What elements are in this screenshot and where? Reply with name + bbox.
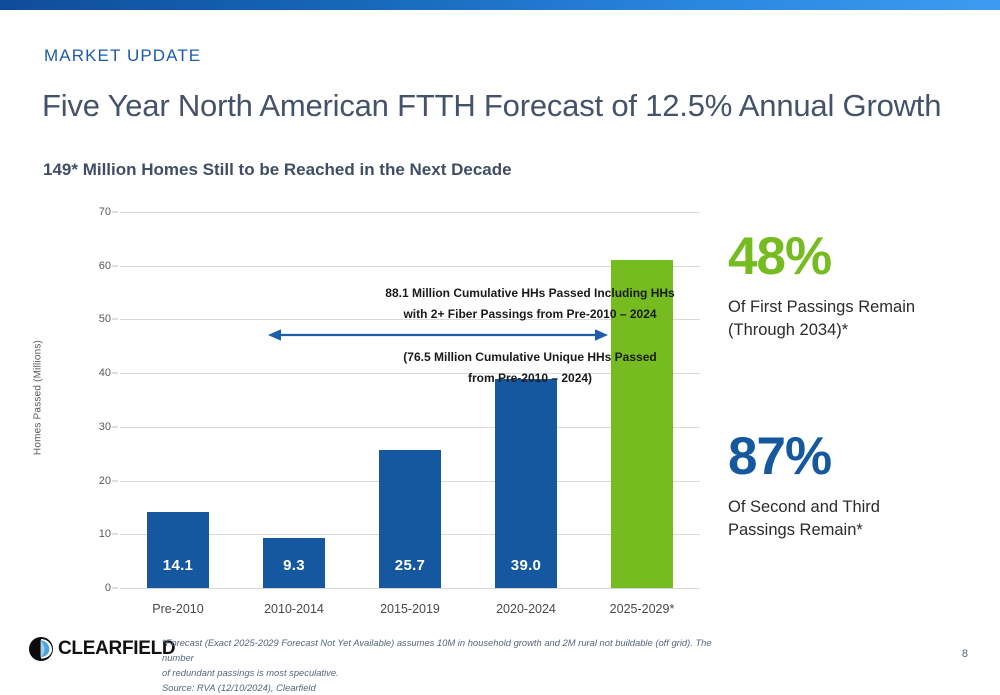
plot-area: 010203040506070 14.1Pre-20109.32010-2014… bbox=[120, 212, 700, 588]
page-title: Five Year North American FTTH Forecast o… bbox=[42, 88, 941, 124]
bar[interactable] bbox=[611, 260, 673, 588]
page-subtitle: 149* Million Homes Still to be Reached i… bbox=[43, 160, 512, 180]
stat-number: 48% bbox=[728, 230, 993, 284]
y-axis-tick-label: 70 bbox=[99, 206, 111, 218]
bar-group: 25.72015-2019 bbox=[352, 212, 468, 588]
stat-description-line-1: Of First Passings Remain bbox=[728, 298, 915, 316]
bar-value-label: 39.0 bbox=[511, 557, 541, 574]
y-axis-tick-label: 20 bbox=[99, 475, 111, 487]
bar-value-label: 25.7 bbox=[395, 557, 425, 574]
bar-group: 14.1Pre-2010 bbox=[120, 212, 236, 588]
x-axis-tick-label: 2020-2024 bbox=[496, 602, 556, 616]
bar-series: 14.1Pre-20109.32010-201425.72015-201939.… bbox=[120, 212, 700, 588]
gridline bbox=[120, 588, 700, 589]
y-axis-tick-label: 10 bbox=[99, 528, 111, 540]
y-axis-tick-label: 60 bbox=[99, 260, 111, 272]
bar-value-label: 9.3 bbox=[283, 557, 305, 574]
y-axis-title: Homes Passed (Millions) bbox=[33, 308, 44, 488]
stat-block-second-third-passings: 87% Of Second and Third Passings Remain* bbox=[728, 430, 993, 543]
footnote-line-3: Source: RVA (12/10/2024), Clearfield bbox=[162, 682, 316, 693]
stat-description-line-2: (Through 2034)* bbox=[728, 321, 848, 339]
stat-number: 87% bbox=[728, 430, 993, 484]
y-axis-tick-label: 50 bbox=[99, 313, 111, 325]
y-axis-tick-mark bbox=[112, 534, 118, 535]
y-axis-tick-mark bbox=[112, 212, 118, 213]
stat-description-line-2: Passings Remain* bbox=[728, 521, 863, 539]
y-axis-tick-label: 0 bbox=[105, 582, 111, 594]
stat-description: Of First Passings Remain (Through 2034)* bbox=[728, 296, 993, 343]
bar[interactable]: 14.1 bbox=[147, 512, 209, 588]
y-axis-tick-mark bbox=[112, 319, 118, 320]
bar-group: 39.02020-2024 bbox=[468, 212, 584, 588]
y-axis-tick-label: 30 bbox=[99, 421, 111, 433]
x-axis-tick-label: 2015-2019 bbox=[380, 602, 440, 616]
x-axis-tick-label: 2010-2014 bbox=[264, 602, 324, 616]
y-axis-tick-label: 40 bbox=[99, 367, 111, 379]
y-axis-tick-mark bbox=[112, 480, 118, 481]
bar-group: 2025-2029* bbox=[584, 212, 700, 588]
footnote-line-1: *Forecast (Exact 2025-2029 Forecast Not … bbox=[162, 637, 712, 663]
clearfield-logo: CLEARFIELD bbox=[28, 636, 175, 662]
bar-value-label: 14.1 bbox=[163, 557, 193, 574]
bar[interactable]: 9.3 bbox=[263, 538, 325, 588]
top-accent-banner bbox=[0, 0, 1000, 10]
clearfield-wordmark: CLEARFIELD bbox=[58, 638, 175, 660]
y-axis-tick-mark bbox=[112, 373, 118, 374]
stat-description: Of Second and Third Passings Remain* bbox=[728, 496, 993, 543]
stat-description-line-1: Of Second and Third bbox=[728, 498, 880, 516]
y-axis-tick-mark bbox=[112, 588, 118, 589]
x-axis-tick-label: Pre-2010 bbox=[152, 602, 203, 616]
bar[interactable]: 39.0 bbox=[495, 379, 557, 588]
stat-block-first-passings: 48% Of First Passings Remain (Through 20… bbox=[728, 230, 993, 343]
footnote-line-2: of redundant passings is most speculativ… bbox=[162, 667, 339, 678]
bar-chart: Homes Passed (Millions) 010203040506070 … bbox=[0, 196, 720, 626]
eyebrow-label: MARKET UPDATE bbox=[44, 46, 201, 66]
x-axis-tick-label: 2025-2029* bbox=[610, 602, 675, 616]
y-axis-tick-mark bbox=[112, 265, 118, 266]
page-number: 8 bbox=[962, 648, 968, 660]
y-axis-tick-mark bbox=[112, 426, 118, 427]
bar-group: 9.32010-2014 bbox=[236, 212, 352, 588]
bar[interactable]: 25.7 bbox=[379, 450, 441, 588]
clearfield-shell-icon bbox=[28, 636, 54, 662]
footnote: *Forecast (Exact 2025-2029 Forecast Not … bbox=[162, 636, 732, 695]
